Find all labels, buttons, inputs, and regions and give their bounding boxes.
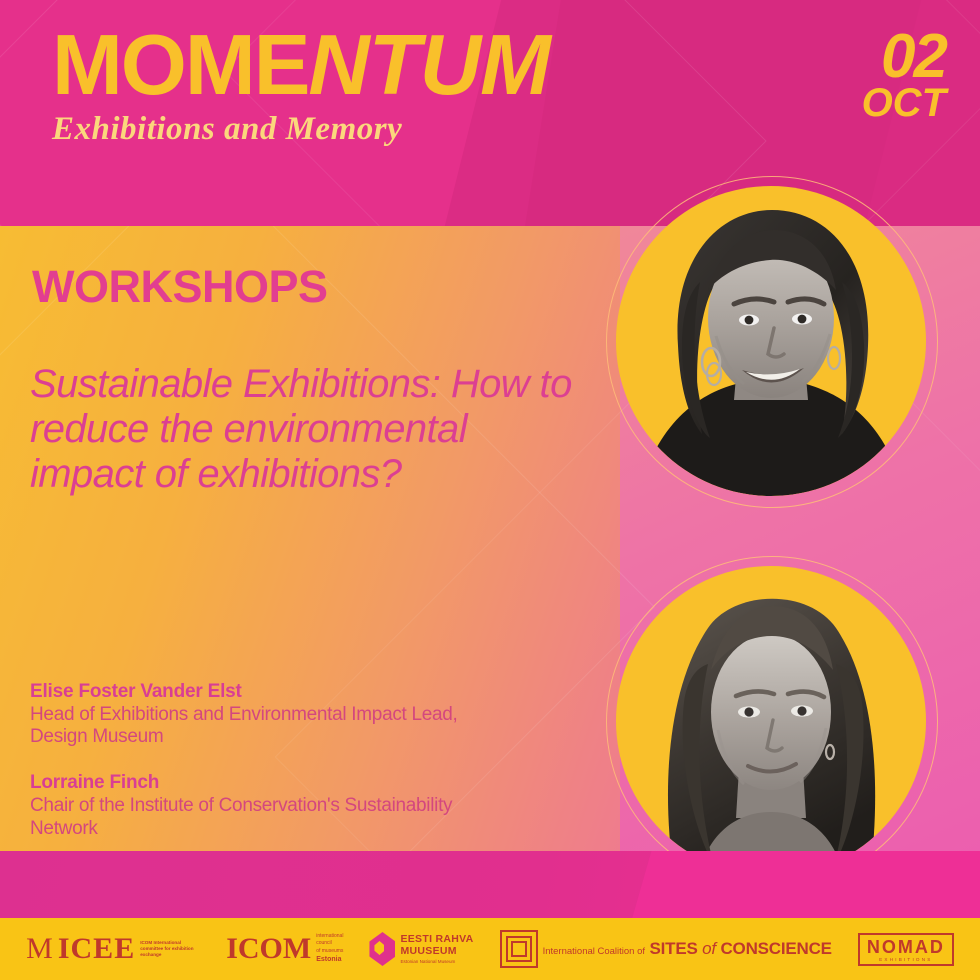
soc-word-of: of	[702, 939, 716, 958]
soc-word-conscience: CONSCIENCE	[720, 939, 831, 958]
icee-monogram-icon: M	[26, 934, 53, 964]
speaker-role: Head of Exhibitions and Environmental Im…	[30, 704, 500, 748]
nested-squares-icon	[500, 930, 538, 968]
logo-eesti-rahva-muuseum[interactable]: EESTI RAHVA MUUSEUM Estonian National Mu…	[369, 932, 473, 966]
speaker-entry: Lorraine Finch Chair of the Institute of…	[30, 772, 500, 839]
icom-country: Estonia	[316, 956, 341, 963]
icom-tagline-line1: international	[316, 933, 343, 939]
wordmark-part-one: MOME	[52, 18, 308, 113]
event-poster: MOMENTUM Exhibitions and Memory 02 OCT W…	[0, 0, 980, 980]
wordmark-part-two: NTUM	[308, 18, 550, 113]
icee-wordmark: ICEE	[58, 934, 135, 964]
logo-icee[interactable]: M ICEE ICOM International committee for …	[26, 934, 200, 964]
logo-icom-estonia[interactable]: ICOM international council of museums Es…	[226, 933, 343, 965]
erm-name-line2: MUUSEUM	[400, 946, 473, 957]
soc-text-block: International Coalition of SITES of CONS…	[543, 940, 832, 959]
erm-name-line1: EESTI RAHVA	[400, 934, 473, 945]
icom-wordmark: ICOM	[226, 934, 311, 964]
bottom-magenta-band	[0, 851, 980, 918]
speaker-portrait-1	[616, 186, 926, 496]
momentum-wordmark: MOMENTUM	[52, 26, 550, 107]
soc-word-sites: SITES	[650, 939, 698, 958]
logo-sites-of-conscience[interactable]: International Coalition of SITES of CONS…	[500, 930, 832, 968]
momentum-tagline: Exhibitions and Memory	[52, 111, 550, 148]
erm-diamond-icon	[369, 932, 395, 966]
soc-tagline: International Coalition of	[543, 946, 645, 957]
erm-wordmark: EESTI RAHVA MUUSEUM Estonian National Mu…	[400, 934, 473, 964]
workshop-title: Sustainable Exhibitions: How to reduce t…	[30, 362, 590, 498]
nomad-box: NOMAD EXHIBITIONS	[858, 933, 954, 966]
partner-logo-bar: M ICEE ICOM International committee for …	[0, 918, 980, 980]
date-month: OCT	[862, 85, 946, 122]
soc-wordmark: SITES of CONSCIENCE	[650, 939, 832, 958]
portrait-photo-2	[616, 566, 926, 876]
icee-tagline: ICOM International committee for exhibit…	[140, 940, 200, 959]
erm-tagline: Estonian National Museum	[400, 959, 473, 964]
speaker-role: Chair of the Institute of Conservation's…	[30, 795, 500, 839]
nomad-tagline: EXHIBITIONS	[867, 957, 945, 962]
event-date-badge: 02 OCT	[862, 28, 946, 122]
speaker-entry: Elise Foster Vander Elst Head of Exhibit…	[30, 681, 500, 748]
icom-tagline-line3: of museums	[316, 948, 343, 954]
logo-nomad-exhibitions[interactable]: NOMAD EXHIBITIONS	[858, 933, 954, 966]
icom-tagline: international council of museums Estonia	[316, 933, 343, 965]
section-kicker: WORKSHOPS	[32, 261, 328, 313]
portrait-photo-1	[616, 186, 926, 496]
date-day: 02	[862, 28, 946, 85]
speaker-name: Elise Foster Vander Elst	[30, 681, 500, 703]
speaker-portrait-2	[616, 566, 926, 876]
momentum-logo: MOMENTUM Exhibitions and Memory	[52, 26, 550, 148]
band-diagonal-shape	[620, 851, 980, 918]
speaker-name: Lorraine Finch	[30, 772, 500, 794]
icom-tagline-line2: council	[316, 940, 332, 946]
speaker-list: Elise Foster Vander Elst Head of Exhibit…	[30, 681, 500, 851]
nomad-wordmark: NOMAD	[867, 938, 945, 956]
